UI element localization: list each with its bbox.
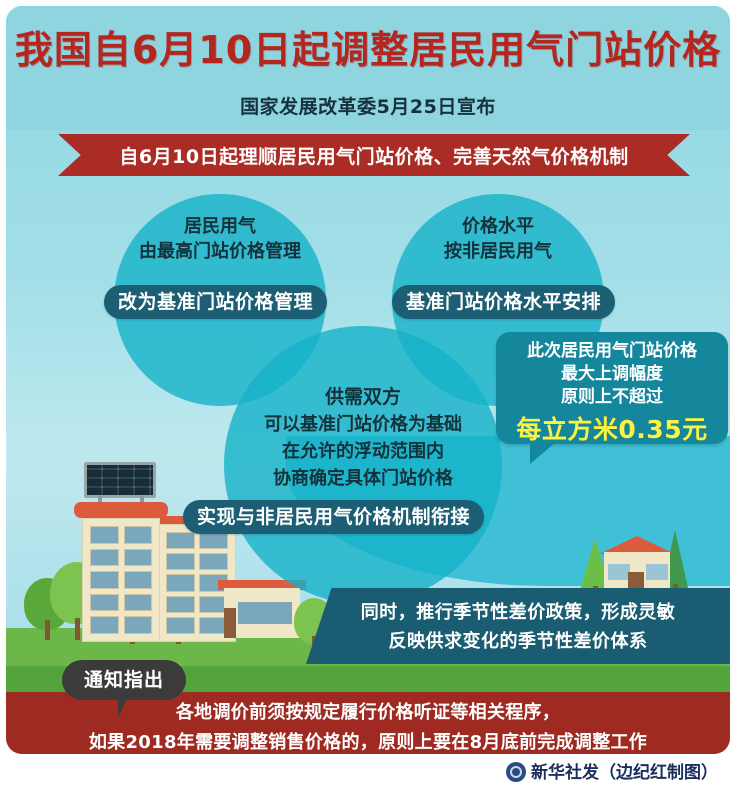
pill-middle-label: 实现与非居民用气价格机制衔接 bbox=[183, 500, 484, 534]
window-icon bbox=[90, 616, 119, 634]
circle-right-line2: 按非居民用气 bbox=[392, 239, 604, 264]
window-icon bbox=[90, 549, 119, 567]
window-icon bbox=[166, 574, 195, 591]
window-icon bbox=[124, 616, 153, 634]
circle-middle-line3: 在允许的浮动范围内 bbox=[206, 438, 520, 465]
pill-right-label: 基准门站价格水平安排 bbox=[392, 285, 615, 319]
building-window-grid-main bbox=[90, 526, 152, 634]
circle-right-line1: 价格水平 bbox=[392, 214, 604, 239]
pill-left-label: 改为基准门站价格管理 bbox=[104, 285, 327, 319]
footer-credit-text: 新华社发（边纪红制图） bbox=[531, 763, 718, 783]
notice-badge: 通知指出 bbox=[62, 660, 186, 700]
footer-credit: 新华社发（边纪红制图） bbox=[0, 758, 736, 783]
solar-panel-grid-icon bbox=[87, 465, 153, 495]
page-title: 我国自6月10日起调整居民用气门站价格 bbox=[6, 28, 730, 72]
notice-line1: 各地调价前须按规定履行价格听证等相关程序， bbox=[6, 698, 730, 728]
window-icon bbox=[646, 564, 668, 580]
xinhua-logo-icon bbox=[506, 762, 526, 782]
price-bubble-line3: 原则上不超过 bbox=[496, 386, 728, 409]
small-house-windows bbox=[238, 602, 292, 624]
building-roof-main bbox=[74, 502, 168, 518]
headline-ribbon: 自6月10日起理顺居民用气门站价格、完善天然气价格机制 bbox=[58, 134, 690, 176]
window-icon bbox=[124, 549, 153, 567]
window-icon bbox=[199, 532, 228, 549]
circle-middle-line4: 协商确定具体门站价格 bbox=[206, 465, 520, 492]
window-icon bbox=[199, 553, 228, 570]
window-icon bbox=[124, 571, 153, 589]
circle-middle-text: 供需双方 可以基准门站价格为基础 在允许的浮动范围内 协商确定具体门站价格 bbox=[206, 384, 520, 492]
notice-badge-tail bbox=[118, 697, 138, 717]
band-line1: 同时，推行季节性差价政策，形成灵敏 bbox=[306, 598, 730, 627]
price-bubble-line1: 此次居民用气门站价格 bbox=[496, 340, 728, 363]
circle-left-line1: 居民用气 bbox=[114, 214, 326, 239]
window-icon bbox=[124, 526, 153, 544]
price-value: 每立方米0.35元 bbox=[496, 410, 728, 446]
price-bubble-text: 此次居民用气门站价格 最大上调幅度 原则上不超过 bbox=[496, 340, 728, 409]
window-icon bbox=[608, 564, 630, 580]
infographic-poster: 我国自6月10日起调整居民用气门站价格 国家发展改革委5月25日宣布 自6月10… bbox=[0, 0, 736, 788]
band-line2: 反映供求变化的季节性差价体系 bbox=[306, 627, 730, 656]
window-icon bbox=[90, 594, 119, 612]
price-bubble-line2: 最大上调幅度 bbox=[496, 363, 728, 386]
circle-middle-line2: 可以基准门站价格为基础 bbox=[206, 411, 520, 438]
poster-card: 我国自6月10日起调整居民用气门站价格 国家发展改革委5月25日宣布 自6月10… bbox=[6, 6, 730, 754]
tree-trunk-icon bbox=[45, 620, 50, 640]
circle-middle-line1: 供需双方 bbox=[206, 384, 520, 411]
window-icon bbox=[166, 617, 195, 634]
circle-left-text: 居民用气 由最高门站价格管理 bbox=[114, 214, 326, 264]
window-icon bbox=[166, 532, 195, 549]
page-subtitle: 国家发展改革委5月25日宣布 bbox=[6, 92, 730, 119]
window-icon bbox=[166, 596, 195, 613]
window-icon bbox=[90, 571, 119, 589]
window-icon bbox=[124, 594, 153, 612]
small-house-door bbox=[224, 608, 236, 638]
notice-line2: 如果2018年需要调整销售价格的，原则上要在8月底前完成调整工作 bbox=[6, 728, 730, 754]
seasonal-policy-text: 同时，推行季节性差价政策，形成灵敏 反映供求变化的季节性差价体系 bbox=[306, 598, 730, 656]
tree-trunk-icon bbox=[75, 618, 80, 640]
circle-right-text: 价格水平 按非居民用气 bbox=[392, 214, 604, 264]
window-icon bbox=[90, 526, 119, 544]
notice-text: 各地调价前须按规定履行价格听证等相关程序， 如果2018年需要调整销售价格的，原… bbox=[6, 698, 730, 754]
window-icon bbox=[166, 553, 195, 570]
circle-left-line2: 由最高门站价格管理 bbox=[114, 239, 326, 264]
